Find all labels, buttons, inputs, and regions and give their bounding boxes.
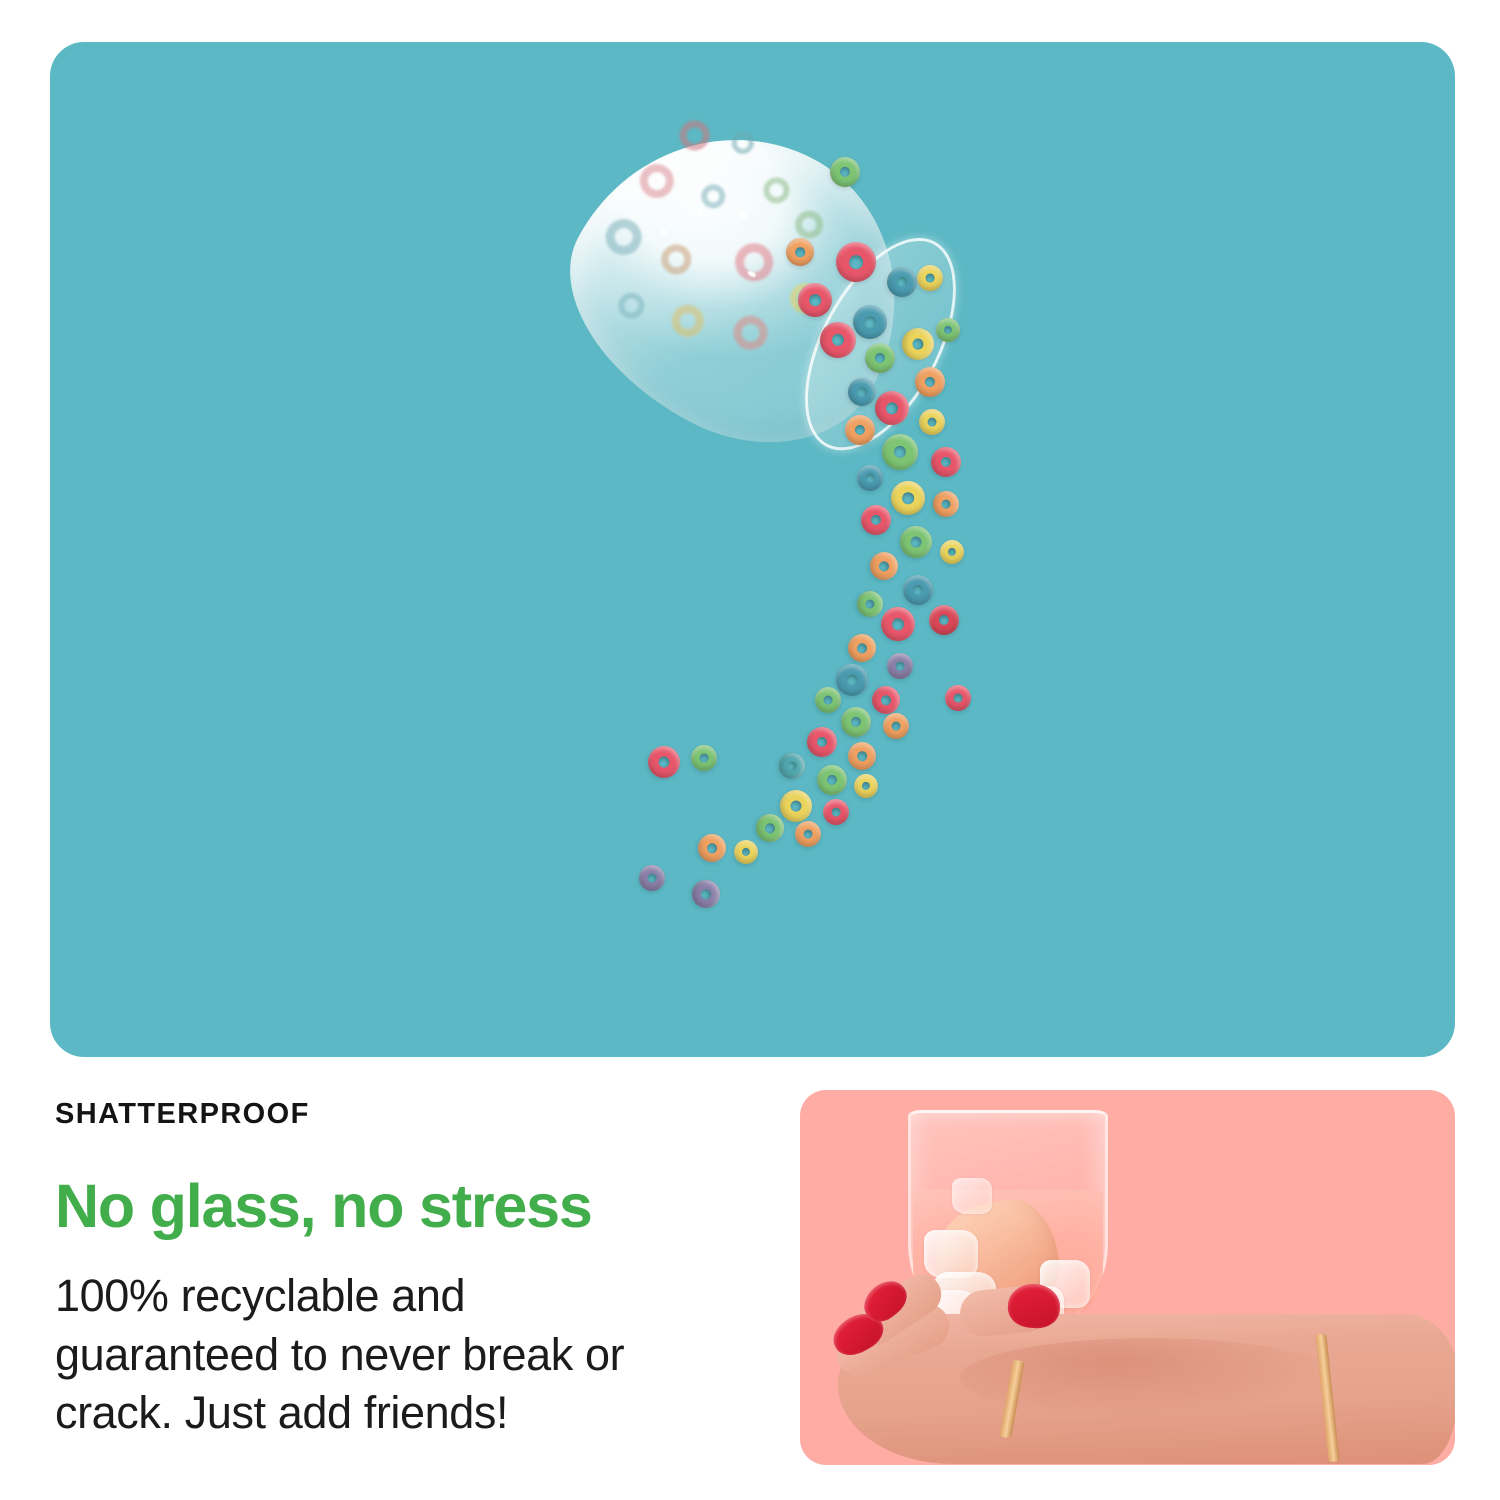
cereal-loop [836, 702, 877, 743]
cereal-loop [823, 799, 850, 826]
fingernail [1007, 1282, 1062, 1330]
cereal-loop [792, 818, 824, 850]
accent-image-panel [800, 1090, 1455, 1465]
cereal-loop [692, 828, 731, 867]
cereal-loop [686, 874, 725, 913]
copy-block: SHATTERPROOF No glass, no stress 100% re… [55, 1100, 695, 1443]
ice-cube [952, 1178, 992, 1214]
cereal-loop [844, 738, 879, 773]
cereal-loop [885, 651, 914, 680]
cereal-loop [801, 721, 843, 763]
cereal-loop [642, 740, 685, 783]
cereal-loop [928, 486, 964, 522]
cereal-loop [929, 605, 959, 635]
cereal-loop [864, 546, 904, 586]
cereal-loop [900, 572, 936, 608]
cereal-loop [939, 539, 965, 565]
cereal-loop [798, 283, 832, 317]
ice-cube [924, 1230, 978, 1278]
cereal-loop [852, 772, 880, 800]
cereal-loop [887, 477, 929, 519]
cereal-loop [635, 861, 669, 895]
cereal-loop [894, 520, 938, 564]
cereal-loop [882, 712, 911, 741]
cereal-loop [689, 743, 718, 772]
hero-image-panel [50, 42, 1455, 1057]
cereal-loop [842, 628, 881, 667]
eyebrow-label: SHATTERPROOF [55, 1100, 695, 1129]
cereal-loop [812, 760, 852, 800]
body-copy: 100% recyclable and guaranteed to never … [55, 1267, 695, 1443]
cereal-loop [732, 838, 760, 866]
hand [810, 1278, 1455, 1465]
cereal-loop [925, 441, 967, 483]
product-feature-page: SHATTERPROOF No glass, no stress 100% re… [0, 0, 1500, 1500]
headline: No glass, no stress [55, 1176, 695, 1237]
cereal-loop [774, 748, 810, 784]
cereal-loop [944, 684, 973, 713]
